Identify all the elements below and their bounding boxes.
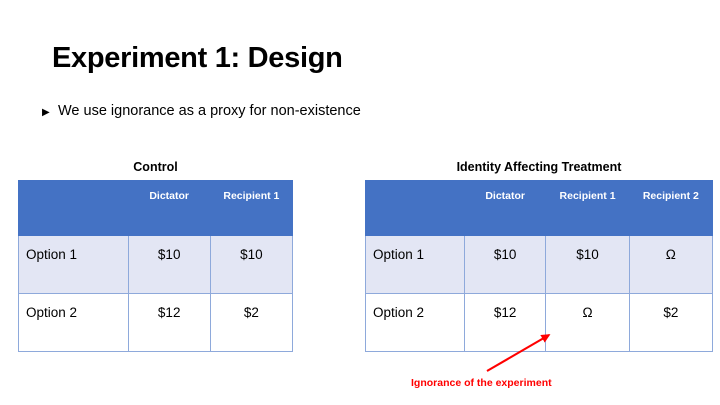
table-row: Option 1 $10 $10 Ω bbox=[366, 236, 713, 294]
treatment-row-2-recipient-2: $2 bbox=[629, 294, 712, 352]
table-row: Option 1 $10 $10 bbox=[19, 236, 293, 294]
slide-canvas: Experiment 1: Design ▶ We use ignorance … bbox=[0, 0, 720, 405]
control-row-1-recipient-1: $10 bbox=[210, 236, 292, 294]
control-table-header-row: Dictator Recipient 1 bbox=[19, 181, 293, 236]
treatment-header-recipient-1: Recipient 1 bbox=[546, 181, 629, 236]
control-table-caption: Control bbox=[18, 160, 293, 174]
table-row: Option 2 $12 $2 bbox=[19, 294, 293, 352]
treatment-table-caption: Identity Affecting Treatment bbox=[365, 160, 713, 174]
treatment-table-header-row: Dictator Recipient 1 Recipient 2 bbox=[366, 181, 713, 236]
control-row-1-label: Option 1 bbox=[19, 236, 129, 294]
treatment-row-1-label: Option 1 bbox=[366, 236, 465, 294]
control-row-2-dictator: $12 bbox=[128, 294, 210, 352]
table-row: Option 2 $12 Ω $2 bbox=[366, 294, 713, 352]
bullet-list-item: ▶ We use ignorance as a proxy for non-ex… bbox=[42, 103, 361, 119]
treatment-header-recipient-2: Recipient 2 bbox=[629, 181, 712, 236]
treatment-row-2-dictator: $12 bbox=[464, 294, 546, 352]
control-row-2-label: Option 2 bbox=[19, 294, 129, 352]
control-row-2-recipient-1: $2 bbox=[210, 294, 292, 352]
bullet-item-label: We use ignorance as a proxy for non-exis… bbox=[58, 103, 361, 119]
triangle-right-bullet-icon: ▶ bbox=[42, 108, 58, 118]
treatment-header-dictator: Dictator bbox=[464, 181, 546, 236]
control-header-corner bbox=[19, 181, 129, 236]
annotation-caption: Ignorance of the experiment bbox=[411, 377, 552, 389]
treatment-header-corner bbox=[366, 181, 465, 236]
control-table: Dictator Recipient 1 Option 1 $10 $10 Op… bbox=[18, 180, 293, 352]
treatment-table: Dictator Recipient 1 Recipient 2 Option … bbox=[365, 180, 713, 352]
treatment-row-1-recipient-1: $10 bbox=[546, 236, 629, 294]
control-table-block: Control Dictator Recipient 1 Option 1 $1… bbox=[18, 160, 293, 352]
control-header-dictator: Dictator bbox=[128, 181, 210, 236]
treatment-table-block: Identity Affecting Treatment Dictator Re… bbox=[365, 160, 713, 352]
treatment-row-1-recipient-2: Ω bbox=[629, 236, 712, 294]
treatment-row-1-dictator: $10 bbox=[464, 236, 546, 294]
treatment-row-2-label: Option 2 bbox=[366, 294, 465, 352]
control-header-recipient-1: Recipient 1 bbox=[210, 181, 292, 236]
page-title: Experiment 1: Design bbox=[52, 42, 343, 75]
control-row-1-dictator: $10 bbox=[128, 236, 210, 294]
treatment-row-2-recipient-1: Ω bbox=[546, 294, 629, 352]
